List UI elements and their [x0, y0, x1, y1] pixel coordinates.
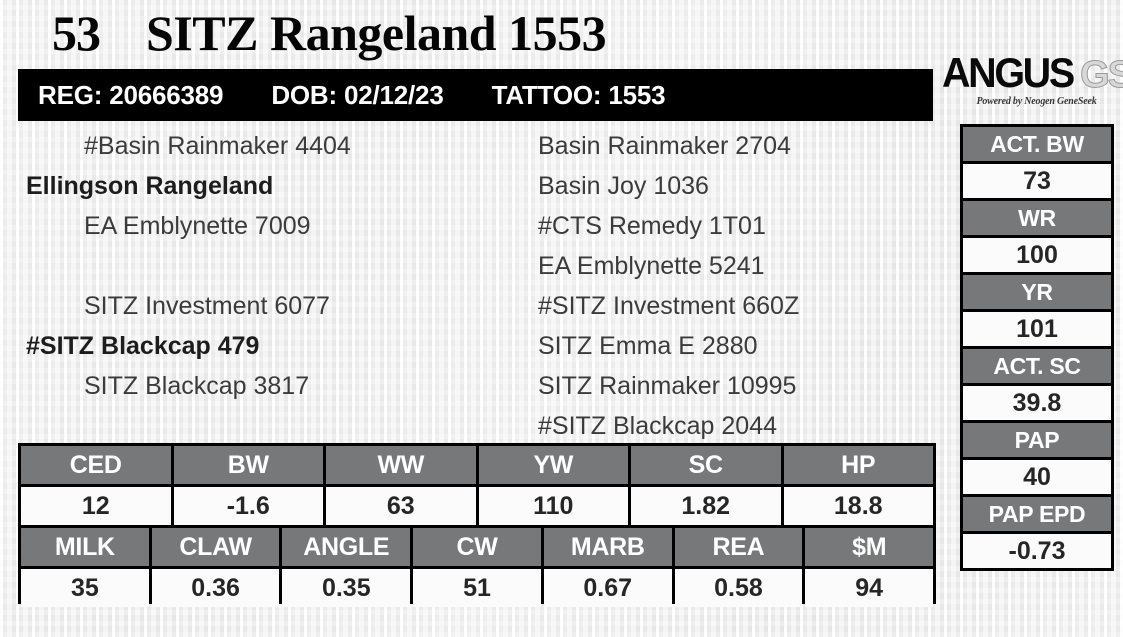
sidebar-label-act-sc: ACT. SC	[963, 349, 1111, 383]
sidebar-label-pap-epd: PAP EPD	[963, 497, 1111, 531]
epd-header-cell: REA	[675, 528, 803, 566]
pedigree-line: Ellingson Rangeland	[0, 166, 520, 206]
epd-value-cell: 0.35	[282, 569, 410, 607]
epd-header-cell: HP	[784, 446, 934, 484]
pedigree-line: EA Emblynette 5241	[538, 246, 938, 286]
pedigree-line: #SITZ Blackcap 2044	[538, 406, 938, 446]
epd-value-cell: 0.67	[544, 569, 672, 607]
epd-value-cell: 0.58	[675, 569, 803, 607]
pedigree-line: SITZ Rainmaker 10995	[538, 366, 938, 406]
epd-header-cell: BW	[174, 446, 324, 484]
epd-value-cell: 63	[326, 487, 476, 525]
sidebar-value-act-bw: 73	[963, 164, 1111, 198]
pedigree-line: SITZ Emma E 2880	[538, 326, 938, 366]
logo-angus-text: ANGUS	[942, 52, 1073, 94]
page-title: 53 SITZ Rangeland 1553	[0, 2, 940, 64]
epd-value-cell: 12	[21, 487, 171, 525]
sidebar-value-pap: 40	[963, 460, 1111, 494]
pedigree-line: #Basin Rainmaker 4404	[0, 126, 520, 166]
tattoo-number: TATTOO: 1553	[492, 80, 666, 111]
date-of-birth: DOB: 02/12/23	[271, 80, 443, 111]
pedigree-section: #Basin Rainmaker 4404Ellingson Rangeland…	[0, 126, 940, 436]
epd-header-cell: WW	[326, 446, 476, 484]
pedigree-line: SITZ Investment 6077	[0, 286, 520, 326]
epd-value-cell: 51	[413, 569, 541, 607]
epd-header-row-1: CEDBWWWYWSCHP	[21, 446, 933, 484]
pedigree-line: #SITZ Investment 660Z	[538, 286, 938, 326]
epd-header-cell: CW	[413, 528, 541, 566]
pedigree-column-grandparents: Basin Rainmaker 2704Basin Joy 1036#CTS R…	[538, 126, 938, 446]
epd-header-cell: SC	[631, 446, 781, 484]
epd-header-cell: $M	[805, 528, 933, 566]
angus-gs-logo: ANGUS GS Powered by Neogen GeneSeek	[958, 52, 1115, 112]
epd-table: CEDBWWWYWSCHP 12-1.6631101.8218.8 MILKCL…	[18, 443, 936, 604]
pedigree-line: Basin Joy 1036	[538, 166, 938, 206]
sidebar-value-wr: 100	[963, 238, 1111, 272]
epd-header-cell: ANGLE	[282, 528, 410, 566]
epd-value-cell: 110	[479, 487, 629, 525]
epd-value-cell: 35	[21, 569, 149, 607]
pedigree-line: SITZ Blackcap 3817	[0, 366, 520, 406]
epd-value-row-1: 12-1.6631101.8218.8	[21, 487, 933, 525]
pedigree-line	[0, 246, 520, 286]
pedigree-line: #CTS Remedy 1T01	[538, 206, 938, 246]
epd-value-cell: 1.82	[631, 487, 781, 525]
epd-value-row-2: 350.360.35510.670.5894	[21, 569, 933, 607]
pedigree-line: #SITZ Blackcap 479	[0, 326, 520, 366]
sidebar-label-wr: WR	[963, 201, 1111, 235]
sidebar-measurement-table: ACT. BW73WR100YR101ACT. SC39.8PAP40PAP E…	[960, 124, 1114, 571]
epd-value-cell: 18.8	[784, 487, 934, 525]
pedigree-line: EA Emblynette 7009	[0, 206, 520, 246]
epd-value-cell: -1.6	[174, 487, 324, 525]
registration-number: REG: 20666389	[38, 80, 223, 111]
sidebar-value-act-sc: 39.8	[963, 386, 1111, 420]
lot-number: 53	[52, 4, 100, 62]
logo-gs-text: GS	[1080, 56, 1123, 94]
pedigree-column-parents: #Basin Rainmaker 4404Ellingson Rangeland…	[0, 126, 520, 406]
epd-header-cell: CLAW	[152, 528, 280, 566]
identification-bar: REG: 20666389 DOB: 02/12/23 TATTOO: 1553	[18, 69, 933, 121]
sidebar-value-pap-epd: -0.73	[963, 534, 1111, 568]
logo-wordmark: ANGUS GS	[958, 52, 1115, 94]
epd-header-row-2: MILKCLAWANGLECWMARBREA$M	[21, 528, 933, 566]
epd-header-cell: YW	[479, 446, 629, 484]
epd-value-cell: 94	[805, 569, 933, 607]
sidebar-label-act-bw: ACT. BW	[963, 127, 1111, 161]
sidebar-label-pap: PAP	[963, 423, 1111, 457]
epd-value-cell: 0.36	[152, 569, 280, 607]
epd-header-cell: MILK	[21, 528, 149, 566]
epd-header-cell: MARB	[544, 528, 672, 566]
logo-tagline: Powered by Neogen GeneSeek	[958, 96, 1115, 107]
sidebar-value-yr: 101	[963, 312, 1111, 346]
sidebar-label-yr: YR	[963, 275, 1111, 309]
epd-header-cell: CED	[21, 446, 171, 484]
pedigree-line: Basin Rainmaker 2704	[538, 126, 938, 166]
sale-lot-card: 53 SITZ Rangeland 1553 REG: 20666389 DOB…	[0, 0, 1123, 637]
animal-name: SITZ Rangeland 1553	[146, 4, 606, 62]
